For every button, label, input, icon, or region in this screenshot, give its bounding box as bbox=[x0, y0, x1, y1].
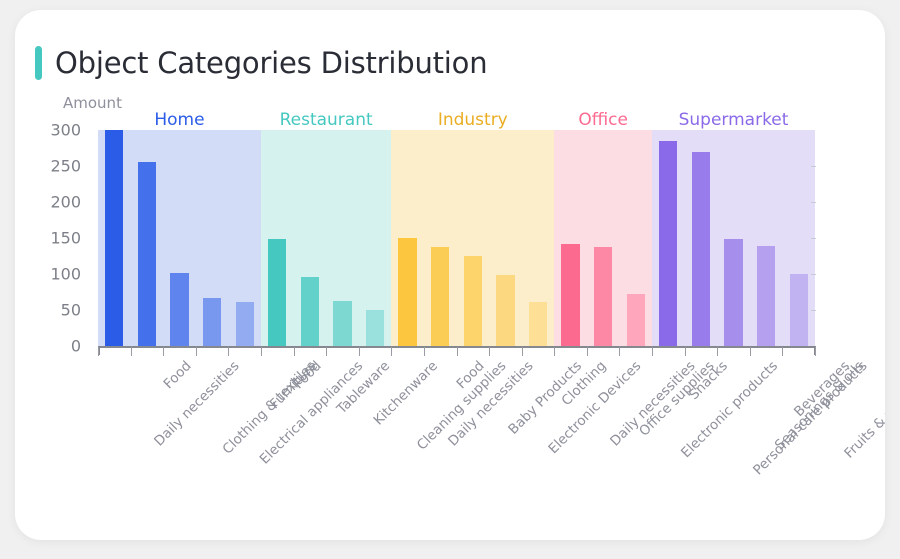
bar[interactable] bbox=[692, 152, 710, 346]
x-axis-ticks bbox=[98, 347, 816, 356]
x-axis-tick bbox=[261, 347, 262, 356]
bar[interactable] bbox=[757, 246, 775, 346]
x-axis-tick bbox=[685, 347, 686, 356]
x-axis-tick bbox=[750, 347, 751, 356]
x-axis-tick-label: Food bbox=[291, 358, 325, 392]
x-axis-tick bbox=[326, 347, 327, 356]
bar[interactable] bbox=[464, 256, 482, 346]
x-axis-tick bbox=[196, 347, 197, 356]
bar[interactable] bbox=[105, 130, 123, 346]
bar[interactable] bbox=[236, 302, 254, 346]
x-axis-tick-label: Food bbox=[160, 358, 194, 392]
bar-chart: Amount 050100150200250300 HomeRestaurant… bbox=[15, 10, 885, 540]
bar[interactable] bbox=[333, 301, 351, 346]
bar[interactable] bbox=[268, 239, 286, 346]
bar[interactable] bbox=[203, 298, 221, 346]
x-axis-tick bbox=[131, 347, 132, 356]
y-axis-tick-label: 300 bbox=[50, 121, 81, 140]
chart-card: Object Categories Distribution Amount 05… bbox=[15, 10, 885, 540]
group-label-office: Office bbox=[578, 110, 628, 130]
bar[interactable] bbox=[594, 247, 612, 346]
y-axis-tick-labels: 050100150200250300 bbox=[15, 130, 89, 346]
group-label-supermarket: Supermarket bbox=[679, 110, 789, 130]
x-axis-tick bbox=[815, 347, 816, 356]
y-axis-tick-label: 0 bbox=[71, 337, 81, 356]
bar[interactable] bbox=[496, 275, 514, 346]
x-axis-tick bbox=[554, 347, 555, 356]
group-label-home: Home bbox=[154, 110, 204, 130]
y-axis-tick-label: 50 bbox=[61, 301, 81, 320]
x-axis-tick bbox=[717, 347, 718, 356]
bar[interactable] bbox=[790, 274, 808, 346]
x-axis-tick bbox=[359, 347, 360, 356]
group-legend-labels: HomeRestaurantIndustryOfficeSupermarket bbox=[98, 110, 815, 132]
y-axis-tick-label: 250 bbox=[50, 157, 81, 176]
x-axis-tick bbox=[228, 347, 229, 356]
bar[interactable] bbox=[170, 273, 188, 346]
x-axis-tick bbox=[782, 347, 783, 356]
bar[interactable] bbox=[366, 310, 384, 346]
bar[interactable] bbox=[659, 141, 677, 346]
x-axis-tick bbox=[652, 347, 653, 356]
group-label-restaurant: Restaurant bbox=[280, 110, 373, 130]
bar[interactable] bbox=[301, 277, 319, 346]
y-axis-tick-label: 100 bbox=[50, 265, 81, 284]
y-axis-tick-label: 150 bbox=[50, 229, 81, 248]
bar[interactable] bbox=[138, 162, 156, 346]
bar[interactable] bbox=[529, 302, 547, 346]
x-axis-tick bbox=[619, 347, 620, 356]
x-axis-tick bbox=[294, 347, 295, 356]
x-axis-tick bbox=[391, 347, 392, 356]
bar[interactable] bbox=[398, 238, 416, 346]
x-axis-tick bbox=[522, 347, 523, 356]
x-axis-tick bbox=[587, 347, 588, 356]
x-axis-tick bbox=[98, 347, 99, 356]
bar-series bbox=[98, 130, 815, 346]
plot-area bbox=[98, 130, 815, 346]
group-label-industry: Industry bbox=[438, 110, 508, 130]
x-axis-tick bbox=[457, 347, 458, 356]
x-axis-tick bbox=[424, 347, 425, 356]
x-axis-tick bbox=[489, 347, 490, 356]
y-axis-tick-label: 200 bbox=[50, 193, 81, 212]
bar[interactable] bbox=[561, 244, 579, 346]
bar[interactable] bbox=[627, 294, 645, 346]
x-axis-tick bbox=[163, 347, 164, 356]
bar[interactable] bbox=[724, 239, 742, 346]
bar[interactable] bbox=[431, 247, 449, 346]
